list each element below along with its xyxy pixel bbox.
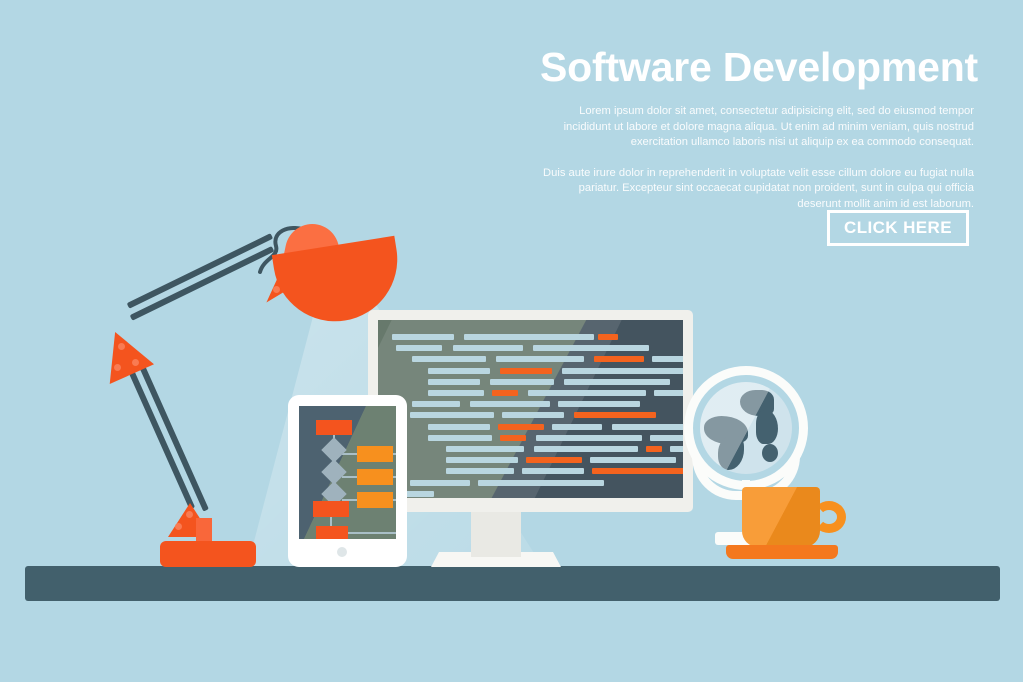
code-line-segment [536, 435, 642, 441]
illustration-canvas: Software Development Lorem ipsum dolor s… [0, 0, 1023, 682]
code-line-segment [410, 480, 470, 486]
lamp-base [160, 541, 256, 567]
code-line-segment [470, 401, 550, 407]
code-line-segment [528, 390, 646, 396]
flowchart-connector [342, 476, 358, 478]
flowchart-process-node [357, 469, 393, 485]
code-line-segment [392, 334, 454, 340]
lamp-joint-elbow [100, 332, 154, 384]
code-line-segment [446, 468, 514, 474]
code-line-segment [594, 356, 644, 362]
cup-shading [742, 487, 820, 547]
code-line-segment [412, 401, 460, 407]
code-line-segment [396, 345, 442, 351]
flowchart-process-node [357, 492, 393, 508]
monitor-screen[interactable] [378, 320, 683, 498]
code-line-segment [496, 356, 584, 362]
code-line-segment [552, 424, 602, 430]
flowchart-connector [393, 476, 396, 478]
flowchart-connector [330, 517, 332, 526]
code-line-segment [564, 379, 670, 385]
code-line-segment [592, 468, 683, 474]
lamp-upper-arm-bar-1 [127, 233, 273, 309]
code-line-segment [490, 379, 554, 385]
code-line-segment [446, 457, 518, 463]
flowchart-connector [348, 532, 396, 534]
code-line-segment [562, 368, 683, 374]
flowchart-connector [393, 499, 396, 501]
page-title: Software Development [540, 44, 974, 90]
code-line-segment [500, 435, 526, 441]
monitor-frame [368, 310, 693, 512]
code-line-segment [478, 480, 604, 486]
lamp-upper-arm-bar-2 [130, 246, 275, 321]
code-line-segment [464, 334, 594, 340]
code-line-segment [428, 390, 484, 396]
flowchart-process-node [357, 446, 393, 462]
code-line-segment [574, 412, 656, 418]
cup-saucer [726, 545, 838, 559]
code-line-segment [446, 446, 524, 452]
hero-text-block: Software Development Lorem ipsum dolor s… [540, 44, 974, 213]
code-line-segment [612, 424, 683, 430]
code-line-segment [558, 401, 640, 407]
hero-paragraph-1: Lorem ipsum dolor sit amet, consectetur … [540, 104, 974, 151]
code-line-segment [534, 446, 638, 452]
code-line-segment [500, 368, 552, 374]
flowchart-process-node [313, 501, 349, 517]
desk-surface [25, 566, 1000, 601]
code-line-segment [646, 446, 662, 452]
code-line-segment [533, 345, 649, 351]
code-line-segment [410, 412, 494, 418]
hero-paragraph-2: Duis aute irure dolor in reprehenderit i… [540, 166, 974, 213]
code-line-segment [428, 435, 492, 441]
code-line-segment [502, 412, 564, 418]
code-line-segment [492, 390, 518, 396]
code-line-segment [590, 457, 676, 463]
flowchart-connector [342, 453, 358, 455]
code-line-segment [526, 457, 582, 463]
tablet-home-button[interactable] [337, 547, 347, 557]
code-line-segment [428, 379, 480, 385]
flowchart-process-node [316, 526, 348, 539]
tablet-screen[interactable] [299, 406, 396, 539]
code-line-segment [428, 424, 490, 430]
code-line-segment [598, 334, 618, 340]
tablet-device [288, 395, 407, 567]
code-line-segment [412, 356, 486, 362]
code-line-segment [453, 345, 523, 351]
flowchart-process-node [316, 420, 352, 435]
code-line-segment [428, 368, 490, 374]
flowchart-connector [393, 453, 396, 455]
click-here-button[interactable]: CLICK HERE [827, 210, 969, 246]
monitor-neck [471, 512, 521, 557]
code-line-segment [522, 468, 584, 474]
coffee-cup [742, 487, 846, 567]
code-line-segment [498, 424, 544, 430]
